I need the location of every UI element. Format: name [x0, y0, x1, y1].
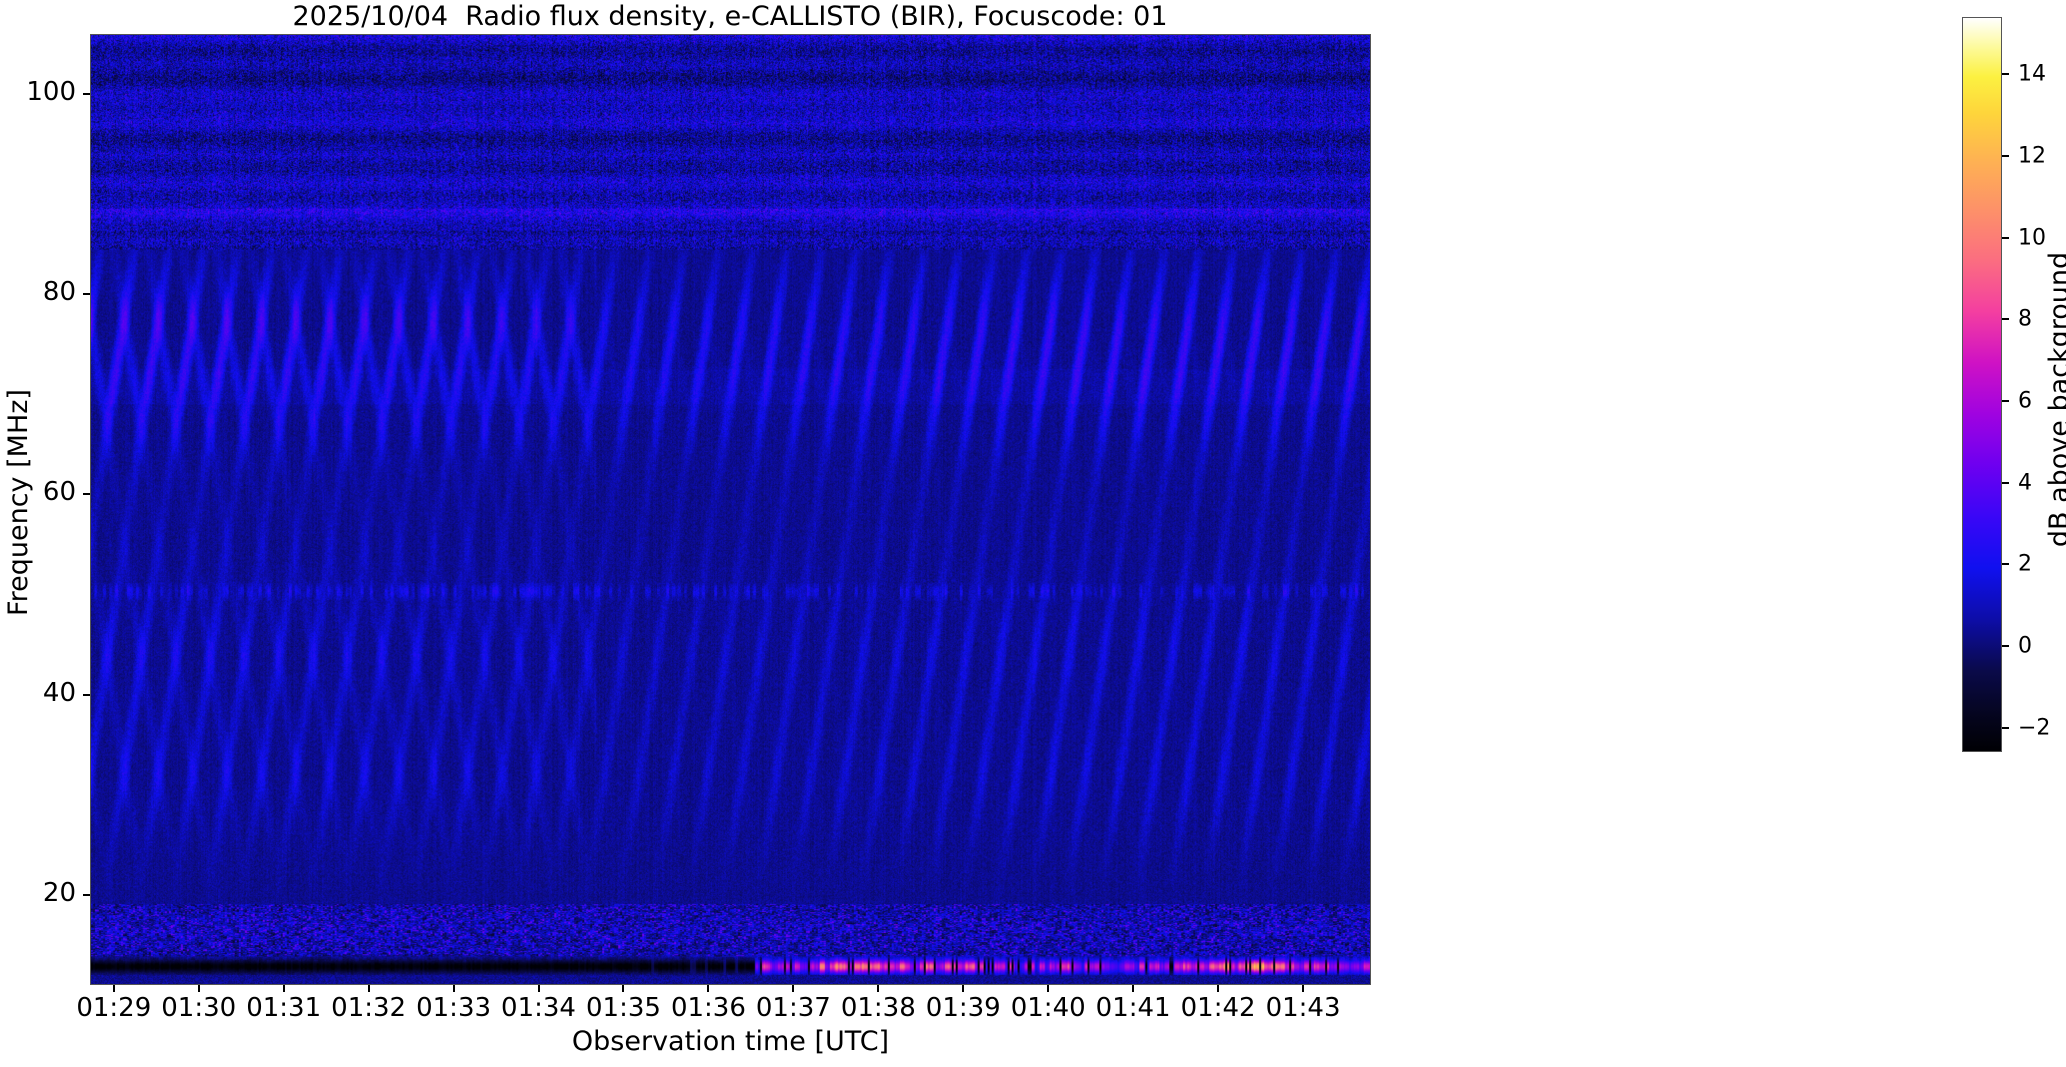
x-tick-label: 01:36 — [671, 993, 746, 1023]
y-tick-mark — [83, 93, 90, 95]
colorbar-tick-mark — [2002, 73, 2009, 75]
y-tick-mark — [83, 293, 90, 295]
x-tick-label: 01:30 — [161, 993, 236, 1023]
y-tick-mark — [83, 694, 90, 696]
x-tick-label: 01:43 — [1266, 993, 1341, 1023]
colorbar-tick-label: 12 — [2018, 143, 2046, 168]
x-tick-mark — [368, 985, 370, 992]
colorbar-tick-label: 14 — [2018, 62, 2046, 87]
colorbar-tick-label: 4 — [2018, 470, 2032, 495]
x-tick-mark — [1047, 985, 1049, 992]
colorbar-tick-mark — [2002, 318, 2009, 320]
colorbar-tick-mark — [2002, 400, 2009, 402]
x-tick-label: 01:39 — [926, 993, 1001, 1023]
x-tick-mark — [1132, 985, 1134, 992]
spectrogram-axes[interactable] — [90, 34, 1371, 985]
y-tick-label: 100 — [26, 77, 76, 107]
colorbar-tick-mark — [2002, 563, 2009, 565]
x-tick-label: 01:32 — [331, 993, 406, 1023]
x-tick-mark — [707, 985, 709, 992]
colorbar-tick-mark — [2002, 237, 2009, 239]
x-tick-mark — [1217, 985, 1219, 992]
colorbar-tick-label: 8 — [2018, 307, 2032, 332]
y-axis-label: Frequency [MHz] — [3, 27, 34, 978]
x-tick-mark — [538, 985, 540, 992]
figure-canvas: 2025/10/04 Radio flux density, e-CALLIST… — [0, 0, 2066, 1067]
colorbar-gradient[interactable] — [1962, 17, 2002, 752]
x-tick-mark — [283, 985, 285, 992]
x-tick-label: 01:35 — [586, 993, 661, 1023]
x-tick-mark — [1302, 985, 1304, 992]
x-tick-mark — [453, 985, 455, 992]
colorbar-tick-mark — [2002, 482, 2009, 484]
x-tick-label: 01:40 — [1011, 993, 1086, 1023]
x-axis-label: Observation time [UTC] — [90, 1026, 1371, 1057]
x-tick-label: 01:31 — [246, 993, 321, 1023]
y-tick-mark — [83, 894, 90, 896]
x-tick-label: 01:37 — [756, 993, 831, 1023]
colorbar-tick-mark — [2002, 645, 2009, 647]
x-tick-label: 01:42 — [1181, 993, 1256, 1023]
colorbar-label: dB above background — [2044, 32, 2066, 767]
x-tick-mark — [877, 985, 879, 992]
y-tick-label: 60 — [43, 477, 76, 507]
x-tick-label: 01:41 — [1096, 993, 1171, 1023]
y-tick-label: 40 — [43, 678, 76, 708]
colorbar-tick-label: 6 — [2018, 388, 2032, 413]
x-tick-mark — [113, 985, 115, 992]
x-tick-mark — [792, 985, 794, 992]
colorbar-tick-label: 10 — [2018, 225, 2046, 250]
x-tick-label: 01:33 — [416, 993, 491, 1023]
x-tick-label: 01:38 — [841, 993, 916, 1023]
colorbar-tick-mark — [2002, 155, 2009, 157]
x-tick-label: 01:29 — [76, 993, 151, 1023]
y-tick-label: 80 — [43, 277, 76, 307]
y-tick-mark — [83, 493, 90, 495]
y-tick-label: 20 — [43, 878, 76, 908]
x-tick-mark — [198, 985, 200, 992]
x-tick-label: 01:34 — [501, 993, 576, 1023]
colorbar-tick-mark — [2002, 727, 2009, 729]
colorbar-tick-label: 0 — [2018, 633, 2032, 658]
x-tick-mark — [622, 985, 624, 992]
page-title: 2025/10/04 Radio flux density, e-CALLIST… — [90, 2, 1370, 32]
x-tick-mark — [962, 985, 964, 992]
spectrogram-heatmap[interactable] — [91, 35, 1370, 984]
colorbar-tick-label: 2 — [2018, 552, 2032, 577]
